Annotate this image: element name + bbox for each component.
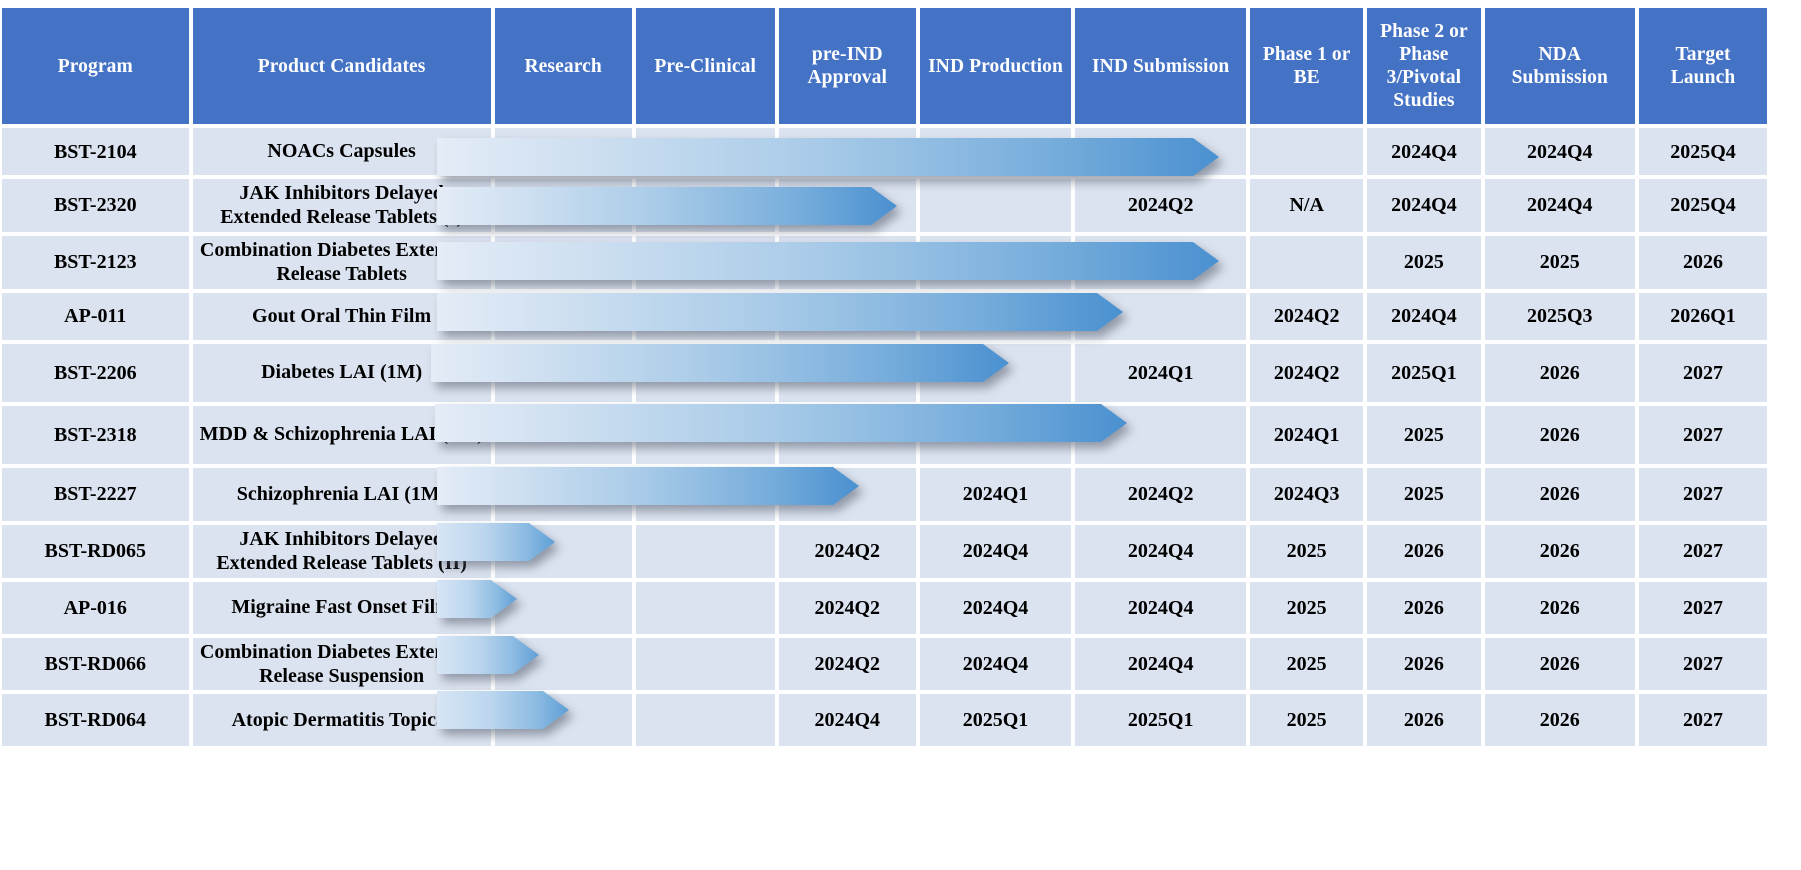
cell-nda-submission: 2026 (1483, 466, 1637, 523)
cell-phase1-or-be: N/A (1248, 177, 1365, 234)
cell-phase1-or-be: 2025 (1248, 580, 1365, 636)
cell-program: BST-RD064 (0, 692, 191, 748)
cell-preclinical (634, 580, 777, 636)
cell-preclinical (634, 291, 777, 342)
cell-product-candidate: NOACs Capsules (191, 126, 493, 177)
column-header-target-launch: Target Launch (1637, 6, 1769, 126)
cell-phase1-or-be: 2024Q3 (1248, 466, 1365, 523)
table-header: Program Product Candidates Research Pre-… (0, 6, 1769, 126)
cell-preclinical (634, 234, 777, 291)
cell-nda-submission: 2026 (1483, 404, 1637, 466)
cell-product-candidate: Migraine Fast Onset Film (191, 580, 493, 636)
table-row: BST-2318MDD & Schizophrenia LAI (1M)2024… (0, 404, 1769, 466)
cell-pre-ind-approval (777, 342, 918, 404)
cell-research (493, 692, 634, 748)
table-row: BST-2104NOACs Capsules2024Q42024Q42025Q4 (0, 126, 1769, 177)
cell-ind-submission (1073, 404, 1248, 466)
cell-phase2-or-3: 2025Q1 (1365, 342, 1482, 404)
cell-preclinical (634, 177, 777, 234)
cell-phase1-or-be (1248, 234, 1365, 291)
cell-target-launch: 2027 (1637, 692, 1769, 748)
cell-ind-submission: 2024Q1 (1073, 342, 1248, 404)
cell-nda-submission: 2026 (1483, 636, 1637, 693)
cell-program: BST-RD065 (0, 523, 191, 580)
cell-research (493, 523, 634, 580)
cell-ind-submission (1073, 291, 1248, 342)
cell-product-candidate: Atopic Dermatitis Topical (191, 692, 493, 748)
table-row: BST-2227Schizophrenia LAI (1M)2024Q12024… (0, 466, 1769, 523)
cell-research (493, 466, 634, 523)
cell-nda-submission: 2024Q4 (1483, 126, 1637, 177)
cell-target-launch: 2026Q1 (1637, 291, 1769, 342)
cell-product-candidate: JAK Inhibitors Delayed Extended Release … (191, 177, 493, 234)
cell-program: BST-2206 (0, 342, 191, 404)
cell-pre-ind-approval: 2024Q2 (777, 523, 918, 580)
table-row: BST-RD066Combination Diabetes Extended-R… (0, 636, 1769, 693)
column-header-pre-ind-approval: pre-IND Approval (777, 6, 918, 126)
cell-pre-ind-approval (777, 291, 918, 342)
cell-product-candidate: Diabetes LAI (1M) (191, 342, 493, 404)
cell-phase2-or-3: 2025 (1365, 466, 1482, 523)
cell-pre-ind-approval (777, 177, 918, 234)
cell-ind-submission (1073, 234, 1248, 291)
cell-phase2-or-3: 2026 (1365, 580, 1482, 636)
cell-phase1-or-be: 2025 (1248, 692, 1365, 748)
cell-target-launch: 2027 (1637, 523, 1769, 580)
cell-ind-submission: 2025Q1 (1073, 692, 1248, 748)
cell-phase2-or-3: 2024Q4 (1365, 126, 1482, 177)
cell-target-launch: 2027 (1637, 580, 1769, 636)
cell-program: BST-2318 (0, 404, 191, 466)
column-header-research: Research (493, 6, 634, 126)
cell-phase1-or-be: 2024Q2 (1248, 342, 1365, 404)
cell-nda-submission: 2026 (1483, 342, 1637, 404)
cell-phase2-or-3: 2026 (1365, 692, 1482, 748)
cell-program: BST-2123 (0, 234, 191, 291)
table-row: AP-011Gout Oral Thin Film2024Q22024Q4202… (0, 291, 1769, 342)
column-header-program: Program (0, 6, 191, 126)
cell-research (493, 342, 634, 404)
cell-phase2-or-3: 2025 (1365, 404, 1482, 466)
cell-product-candidate: Combination Diabetes Extended-Release Su… (191, 636, 493, 693)
cell-ind-production (918, 177, 1074, 234)
cell-pre-ind-approval (777, 466, 918, 523)
cell-phase1-or-be: 2025 (1248, 636, 1365, 693)
cell-program: AP-011 (0, 291, 191, 342)
cell-ind-production (918, 342, 1074, 404)
cell-program: BST-2104 (0, 126, 191, 177)
cell-research (493, 580, 634, 636)
cell-product-candidate: Combination Diabetes Extended-Release Ta… (191, 234, 493, 291)
column-header-pre-clinical: Pre-Clinical (634, 6, 777, 126)
pipeline-table: Program Product Candidates Research Pre-… (0, 6, 1769, 748)
cell-ind-production (918, 404, 1074, 466)
cell-nda-submission: 2026 (1483, 692, 1637, 748)
column-header-ind-submission: IND Submission (1073, 6, 1248, 126)
cell-preclinical (634, 692, 777, 748)
cell-target-launch: 2027 (1637, 636, 1769, 693)
cell-ind-submission: 2024Q4 (1073, 636, 1248, 693)
pipeline-chart: Program Product Candidates Research Pre-… (0, 6, 1801, 870)
table-row: BST-RD064Atopic Dermatitis Topical2024Q4… (0, 692, 1769, 748)
cell-phase2-or-3: 2025 (1365, 234, 1482, 291)
cell-program: BST-2227 (0, 466, 191, 523)
cell-nda-submission: 2024Q4 (1483, 177, 1637, 234)
cell-preclinical (634, 523, 777, 580)
cell-research (493, 126, 634, 177)
cell-target-launch: 2025Q4 (1637, 177, 1769, 234)
cell-target-launch: 2026 (1637, 234, 1769, 291)
cell-product-candidate: JAK Inhibitors Delayed Extended Release … (191, 523, 493, 580)
cell-ind-submission: 2024Q2 (1073, 177, 1248, 234)
header-row: Program Product Candidates Research Pre-… (0, 6, 1769, 126)
cell-product-candidate: Gout Oral Thin Film (191, 291, 493, 342)
cell-phase2-or-3: 2026 (1365, 636, 1482, 693)
cell-ind-submission: 2024Q4 (1073, 580, 1248, 636)
cell-nda-submission: 2025 (1483, 234, 1637, 291)
cell-program: BST-2320 (0, 177, 191, 234)
cell-preclinical (634, 342, 777, 404)
cell-pre-ind-approval: 2024Q2 (777, 636, 918, 693)
column-header-phase-2-or-3: Phase 2 or Phase 3/Pivotal Studies (1365, 6, 1482, 126)
cell-pre-ind-approval: 2024Q4 (777, 692, 918, 748)
cell-pre-ind-approval (777, 234, 918, 291)
cell-phase1-or-be: 2024Q1 (1248, 404, 1365, 466)
cell-ind-production: 2024Q4 (918, 523, 1074, 580)
table-row: BST-2320JAK Inhibitors Delayed Extended … (0, 177, 1769, 234)
cell-preclinical (634, 126, 777, 177)
cell-ind-production: 2024Q1 (918, 466, 1074, 523)
cell-preclinical (634, 404, 777, 466)
cell-ind-submission (1073, 126, 1248, 177)
cell-research (493, 636, 634, 693)
cell-program: BST-RD066 (0, 636, 191, 693)
cell-preclinical (634, 466, 777, 523)
cell-ind-production: 2024Q4 (918, 580, 1074, 636)
column-header-product-candidates: Product Candidates (191, 6, 493, 126)
table-row: BST-RD065JAK Inhibitors Delayed Extended… (0, 523, 1769, 580)
column-header-nda-submission: NDA Submission (1483, 6, 1637, 126)
cell-product-candidate: MDD & Schizophrenia LAI (1M) (191, 404, 493, 466)
cell-phase1-or-be: 2025 (1248, 523, 1365, 580)
cell-pre-ind-approval: 2024Q2 (777, 580, 918, 636)
cell-research (493, 404, 634, 466)
cell-phase2-or-3: 2024Q4 (1365, 177, 1482, 234)
cell-phase2-or-3: 2024Q4 (1365, 291, 1482, 342)
cell-ind-production (918, 234, 1074, 291)
cell-pre-ind-approval (777, 404, 918, 466)
cell-target-launch: 2027 (1637, 342, 1769, 404)
cell-ind-production: 2024Q4 (918, 636, 1074, 693)
cell-ind-submission: 2024Q4 (1073, 523, 1248, 580)
cell-ind-production (918, 291, 1074, 342)
cell-target-launch: 2025Q4 (1637, 126, 1769, 177)
table-row: BST-2123Combination Diabetes Extended-Re… (0, 234, 1769, 291)
table-row: AP-016Migraine Fast Onset Film2024Q22024… (0, 580, 1769, 636)
cell-research (493, 291, 634, 342)
cell-target-launch: 2027 (1637, 404, 1769, 466)
table-body: BST-2104NOACs Capsules2024Q42024Q42025Q4… (0, 126, 1769, 748)
cell-nda-submission: 2026 (1483, 580, 1637, 636)
cell-research (493, 234, 634, 291)
cell-ind-submission: 2024Q2 (1073, 466, 1248, 523)
cell-phase2-or-3: 2026 (1365, 523, 1482, 580)
cell-target-launch: 2027 (1637, 466, 1769, 523)
cell-nda-submission: 2026 (1483, 523, 1637, 580)
cell-nda-submission: 2025Q3 (1483, 291, 1637, 342)
cell-phase1-or-be: 2024Q2 (1248, 291, 1365, 342)
cell-research (493, 177, 634, 234)
cell-pre-ind-approval (777, 126, 918, 177)
cell-preclinical (634, 636, 777, 693)
table-row: BST-2206Diabetes LAI (1M)2024Q12024Q2202… (0, 342, 1769, 404)
column-header-ind-production: IND Production (918, 6, 1074, 126)
cell-program: AP-016 (0, 580, 191, 636)
cell-phase1-or-be (1248, 126, 1365, 177)
cell-product-candidate: Schizophrenia LAI (1M) (191, 466, 493, 523)
column-header-phase-1-or-be: Phase 1 or BE (1248, 6, 1365, 126)
cell-ind-production: 2025Q1 (918, 692, 1074, 748)
cell-ind-production (918, 126, 1074, 177)
